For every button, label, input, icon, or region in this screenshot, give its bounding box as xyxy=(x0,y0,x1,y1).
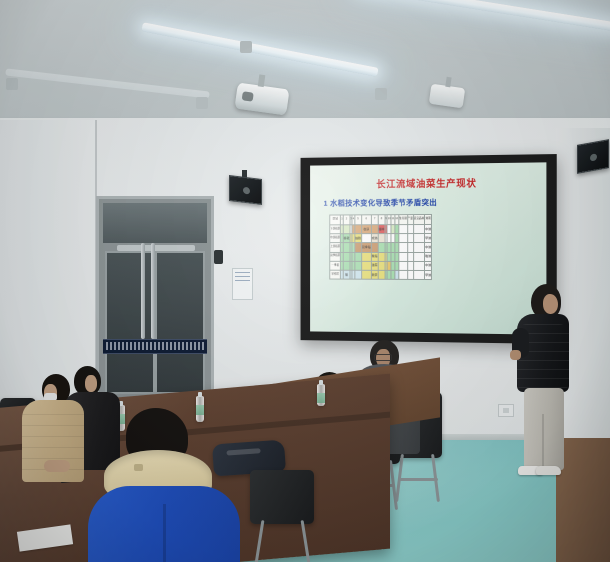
slide-table-row-label: 一季稻 xyxy=(330,261,341,270)
ceiling-light-1 xyxy=(5,68,209,98)
slide-table-header-row: 区域123456789101112生育期产量适宜品种熟期 xyxy=(330,214,432,224)
slide-surface: 长江流域油菜生产现状 1 水稻技术变化导致季节矛盾突出 区域1234567891… xyxy=(310,162,546,334)
light-cap-4 xyxy=(375,88,387,100)
slide-table-cell xyxy=(343,261,350,270)
slide-table-cell xyxy=(371,243,378,252)
slide-table-cell: 抽穗 xyxy=(355,234,362,243)
conference-room-scene: 长江流域油菜生产现状 1 水稻技术变化导致季节矛盾突出 区域1234567891… xyxy=(0,0,610,562)
light-cap-2 xyxy=(196,97,208,109)
slide-table-cell xyxy=(413,234,424,243)
slide-data-table: 区域123456789101112生育期产量适宜品种熟期下游稻区收获播种中熟中游… xyxy=(329,214,432,280)
slide-table-header-cell: 熟期 xyxy=(425,214,432,224)
slide-table-cell: 播种 xyxy=(378,225,385,234)
slide-table-header-cell: 区域 xyxy=(330,215,341,225)
chair-backrest xyxy=(250,470,314,524)
door-signage-text xyxy=(106,342,204,350)
slide-table-cell xyxy=(413,261,424,270)
wall-speaker-left xyxy=(229,175,262,205)
slide-table-row-label: 下游稻区 xyxy=(330,225,341,234)
slide-table-header-cell: 7 xyxy=(371,215,378,225)
slide-table-cell: 早熟 xyxy=(425,270,432,279)
ceiling-light-2 xyxy=(141,22,378,77)
presenter-hand xyxy=(510,350,521,360)
slide-table-cell xyxy=(361,252,371,261)
slide-table-cell xyxy=(378,234,385,243)
presenter-face xyxy=(543,294,558,314)
door-handle-right[interactable] xyxy=(151,243,155,339)
hood-tag xyxy=(134,464,143,471)
slide-table-header-cell: 生育期 xyxy=(399,215,408,225)
attendee-hands xyxy=(44,460,70,472)
slide-table-cell: 中熟 xyxy=(425,224,432,233)
presenter-trousers xyxy=(524,388,564,470)
chair-leg xyxy=(255,520,265,562)
slide-table-cell: 中熟 xyxy=(425,261,432,270)
slide-table-cell xyxy=(399,234,408,243)
slide-table-row: 旱作区播收获早熟 xyxy=(330,270,432,280)
slide-table-cell: 收获 xyxy=(361,225,371,234)
slide-table-cell: 双季稻 xyxy=(361,243,371,252)
attendee-torso xyxy=(88,486,240,562)
slide-table-header-cell: 2 xyxy=(343,215,350,225)
slide-table-cell xyxy=(361,270,371,279)
glasses-icon xyxy=(374,354,392,361)
ceiling-projector-main xyxy=(234,83,289,116)
slide-table-cell xyxy=(378,261,385,270)
slide-table-cell xyxy=(355,225,362,234)
slide-table-cell xyxy=(355,252,362,261)
slide-table-cell xyxy=(378,243,385,252)
door-signage-band xyxy=(103,339,207,354)
slide-table-row: 上游稻区双季稻中熟 xyxy=(330,243,432,252)
slide-table-cell xyxy=(399,261,408,270)
slide-table-cell xyxy=(355,243,362,252)
presenter-standing xyxy=(512,284,582,479)
ceiling-light-3 xyxy=(356,0,610,32)
light-cap-3 xyxy=(240,41,252,53)
slide-table-row-label: 旱作区 xyxy=(330,270,341,279)
bottle-label xyxy=(317,393,325,403)
slide-table-cell xyxy=(399,270,408,279)
door-handle-left[interactable] xyxy=(141,243,145,339)
light-cap-1 xyxy=(6,78,18,90)
attendee-blue-puffer xyxy=(88,408,240,562)
door-access-panel[interactable] xyxy=(214,250,223,264)
chair-leg xyxy=(301,520,311,562)
slide-table-row: 中游稻区移栽抽穗成熟早熟 xyxy=(330,234,432,243)
door-leaf-right[interactable] xyxy=(155,251,205,394)
slide-table-cell: 油菜 xyxy=(371,261,378,270)
slide-table-cell: 播 xyxy=(343,270,350,279)
slide-table-cell xyxy=(413,225,424,234)
slide-table-cell: 移栽 xyxy=(343,234,350,243)
slide-table-row-label: 中游稻区 xyxy=(330,234,341,243)
slide-table-cell: 中熟 xyxy=(425,243,432,252)
slide-table-cell xyxy=(355,270,362,279)
slide-table-cell xyxy=(378,252,385,261)
wall-notice xyxy=(232,268,253,300)
chair-crossbar xyxy=(398,478,438,481)
chair-foreground-right[interactable] xyxy=(250,470,320,562)
slide-table-cell xyxy=(413,270,424,279)
slide-table-cell: 收获 xyxy=(371,270,378,279)
slide-table-cell: 早熟 xyxy=(425,234,432,243)
slide-table-header-cell: 6 xyxy=(361,215,371,225)
slide-table-row-label: 上游稻区 xyxy=(330,243,341,252)
slide-table-cell xyxy=(355,261,362,270)
ceiling-projector-secondary xyxy=(429,84,465,109)
slide-table-cell xyxy=(413,243,424,252)
wall-speaker-right xyxy=(577,139,609,174)
slide-table-cell: 成熟 xyxy=(371,234,378,243)
slide-table-cell xyxy=(413,252,424,261)
slide-table-cell: 晚熟 xyxy=(425,252,432,261)
slide-table-row: 下游稻区收获播种中熟 xyxy=(330,224,432,233)
attendee-beige-coat xyxy=(22,374,88,484)
slide-table-header-cell: 5 xyxy=(355,215,362,225)
slide-table-cell xyxy=(399,243,408,252)
door-transom xyxy=(103,203,207,243)
slide-table-row-label: 双季稻区 xyxy=(330,252,341,261)
slide-subtitle: 1 水稻技术变化导致季节矛盾突出 xyxy=(324,197,437,209)
slide-table-cell: 晚稻 xyxy=(371,252,378,261)
slide-table-header-cell: 适宜品种 xyxy=(413,215,424,225)
slide-table-row: 一季稻油菜中熟 xyxy=(330,261,432,270)
slide-table-cell xyxy=(343,225,350,234)
presenter-shoe-right xyxy=(536,466,561,475)
slide-table-cell xyxy=(371,225,378,234)
slide-table-header-cell: 8 xyxy=(378,215,385,225)
slide-table-row: 双季稻区晚稻晚熟 xyxy=(330,252,432,261)
water-bottle-3[interactable] xyxy=(317,384,325,406)
slide-table-cell xyxy=(399,225,408,234)
slide-table-cell xyxy=(378,270,385,279)
slide-title: 长江流域油菜生产现状 xyxy=(310,175,546,192)
slide-table-cell xyxy=(361,234,371,243)
slide-table-cell xyxy=(343,243,350,252)
slide-table-cell xyxy=(361,261,371,270)
slide-table-cell xyxy=(343,252,350,261)
slide-table-cell xyxy=(399,252,408,261)
